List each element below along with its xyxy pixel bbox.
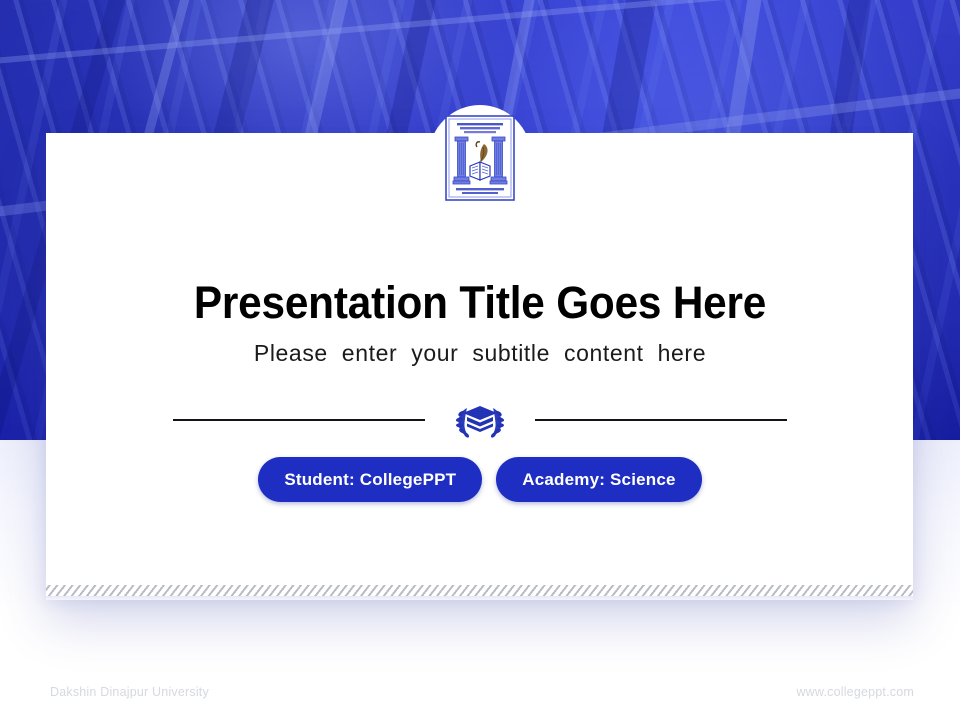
pill-button-group: Student: CollegePPT Academy: Science (0, 457, 960, 502)
divider (0, 398, 960, 442)
footer-website-url[interactable]: www.collegeppt.com (796, 685, 914, 699)
university-crest-icon (444, 114, 516, 202)
card-hatched-strip (46, 585, 913, 596)
pill-academy[interactable]: Academy: Science (496, 457, 701, 502)
footer-university-name: Dakshin Dinajpur University (50, 685, 209, 699)
page-title: Presentation Title Goes Here (29, 277, 931, 329)
pill-student[interactable]: Student: CollegePPT (258, 457, 482, 502)
page-subtitle: Please enter your subtitle content here (0, 340, 960, 367)
graduation-cap-laurel-icon (453, 399, 507, 441)
divider-rule-left (173, 419, 425, 421)
divider-rule-right (535, 419, 787, 421)
card-hatched-strip-base (46, 596, 913, 600)
slide-stage: Presentation Title Goes Here Please ente… (0, 0, 960, 720)
